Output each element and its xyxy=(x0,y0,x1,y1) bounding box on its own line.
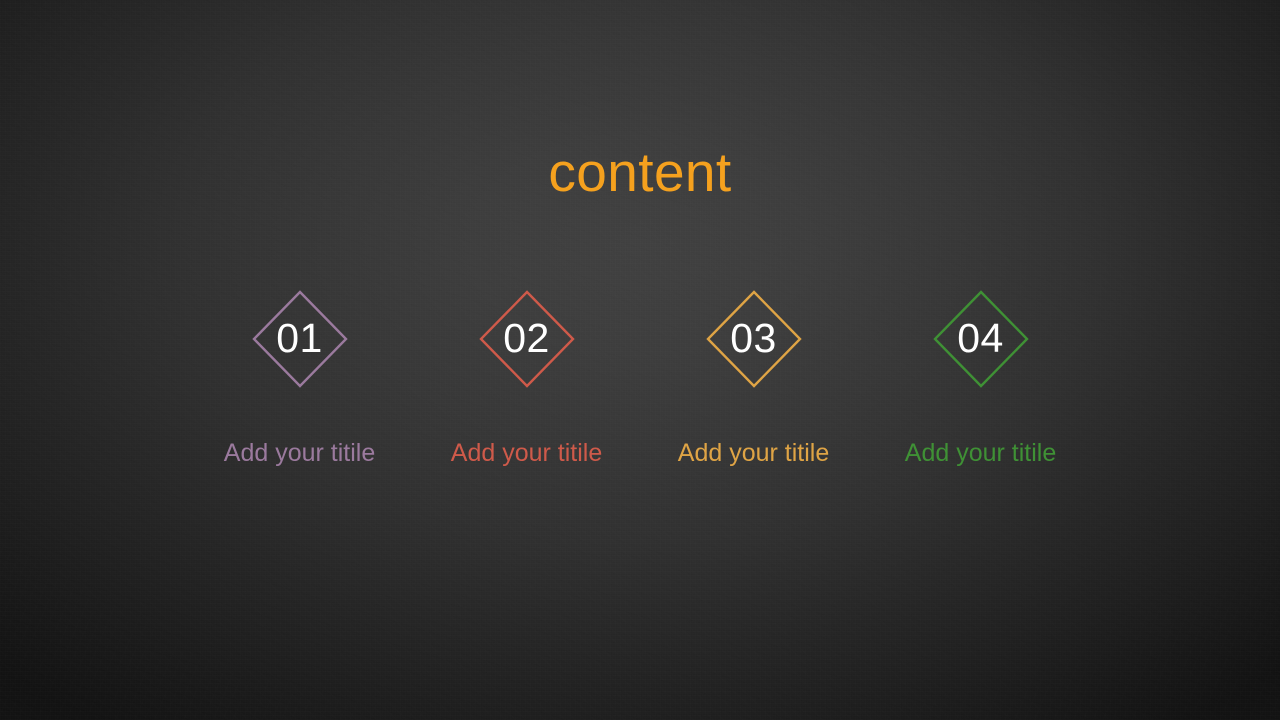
page-title: content xyxy=(0,138,1280,206)
diamond-number-04: 04 xyxy=(931,284,1031,394)
diamond-icon-03[interactable]: 03 xyxy=(704,284,804,394)
item-caption-02[interactable]: Add your titile xyxy=(451,438,602,468)
diamond-number-02: 02 xyxy=(477,284,577,394)
diamond-icon-04[interactable]: 04 xyxy=(931,284,1031,394)
item-caption-01[interactable]: Add your titile xyxy=(224,438,375,468)
slide-canvas: content 01 Add your titile 02 Add your t… xyxy=(0,0,1280,720)
item-caption-03[interactable]: Add your titile xyxy=(678,438,829,468)
diamond-icon-01[interactable]: 01 xyxy=(250,284,350,394)
item-caption-04[interactable]: Add your titile xyxy=(905,438,1056,468)
content-item-03[interactable]: 03 Add your titile xyxy=(640,284,867,484)
content-item-01[interactable]: 01 Add your titile xyxy=(186,284,413,484)
diamond-number-03: 03 xyxy=(704,284,804,394)
content-item-04[interactable]: 04 Add your titile xyxy=(867,284,1094,484)
content-item-02[interactable]: 02 Add your titile xyxy=(413,284,640,484)
content-items-row: 01 Add your titile 02 Add your titile 03… xyxy=(186,284,1094,484)
diamond-number-01: 01 xyxy=(250,284,350,394)
diamond-icon-02[interactable]: 02 xyxy=(477,284,577,394)
